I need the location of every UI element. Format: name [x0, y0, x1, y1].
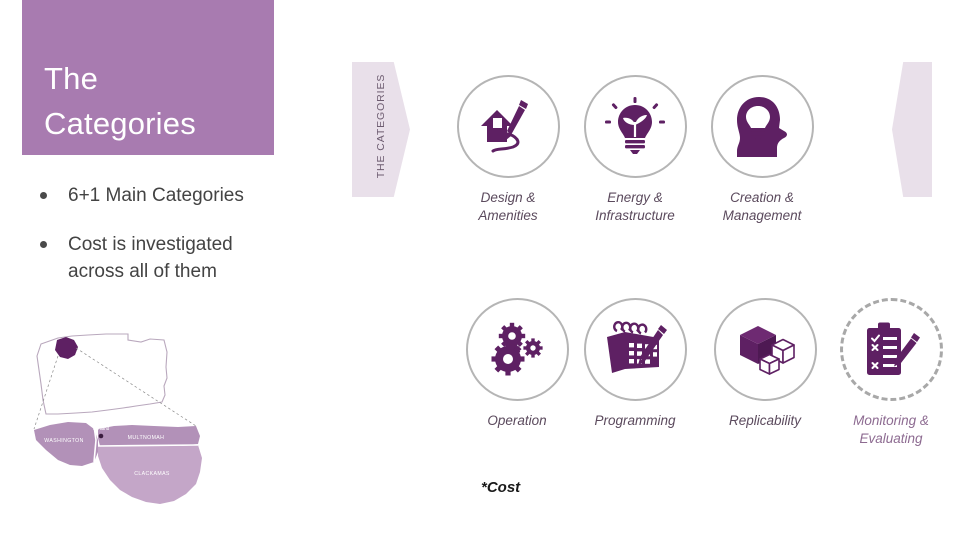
category-card-creation-management[interactable]: Creation & Management — [697, 75, 827, 225]
lightbulb-leaf-icon — [605, 97, 665, 157]
calendar-pencil-icon — [603, 321, 667, 379]
category-card-energy-infrastructure[interactable]: Energy & Infrastructure — [570, 75, 700, 225]
category-card-programming[interactable]: Programming — [570, 298, 700, 430]
cubes-icon — [734, 321, 796, 379]
category-card-operation[interactable]: Operation — [452, 298, 582, 430]
clipboard-checklist-pencil-icon — [861, 321, 921, 379]
cube-small — [760, 354, 779, 374]
category-icon-circle — [457, 75, 560, 178]
category-icon-circle — [466, 298, 569, 401]
list-item: 6+1 Main Categories — [40, 182, 340, 209]
bullet-dot-icon — [40, 192, 47, 199]
category-label: Creation & Management — [697, 189, 827, 225]
head-lightbulb-icon — [733, 96, 791, 158]
list-item: Cost is investigated across all of them — [40, 231, 340, 285]
category-card-design-amenities[interactable]: Design & Amenities — [443, 75, 573, 225]
category-label: Monitoring & Evaluating — [826, 412, 956, 448]
category-card-replicability[interactable]: Replicability — [700, 298, 830, 430]
bullet-text: Cost is investigated across all of them — [68, 231, 233, 285]
left-chevron-banner: THE CATEGORIES — [352, 62, 410, 197]
category-label: Operation — [452, 412, 582, 430]
category-icon-circle — [714, 298, 817, 401]
portland-city-marker — [99, 434, 104, 439]
category-label: Programming — [570, 412, 700, 430]
category-card-monitoring-evaluating[interactable]: Monitoring & Evaluating — [826, 298, 956, 448]
cost-footnote: *Cost — [481, 479, 520, 496]
bullet-text: 6+1 Main Categories — [68, 182, 244, 209]
map-label-washington: WASHINGTON — [44, 438, 83, 444]
category-icon-circle-dashed — [840, 298, 943, 401]
category-label: Energy & Infrastructure — [570, 189, 700, 225]
chevron-banner-label: THE CATEGORIES — [375, 59, 387, 193]
map-label-multnomah: MULTNOMAH — [128, 435, 165, 441]
oregon-county-map: Portland WASHINGTON MULTNOMAH CLACKAMAS — [28, 322, 218, 522]
map-label-portland: Portland — [93, 426, 110, 431]
bullet-dot-icon — [40, 241, 47, 248]
category-icon-circle — [711, 75, 814, 178]
bullet-list: 6+1 Main Categories Cost is investigated… — [40, 182, 340, 307]
category-label: Replicability — [700, 412, 830, 430]
map-svg: Portland WASHINGTON MULTNOMAH CLACKAMAS — [28, 322, 218, 522]
county-washington — [34, 422, 98, 466]
category-label: Design & Amenities — [443, 189, 573, 225]
category-icon-circle — [584, 75, 687, 178]
page-title: The Categories — [44, 56, 196, 146]
category-icon-circle — [584, 298, 687, 401]
house-pencil-icon — [477, 96, 539, 158]
map-label-clackamas: CLACKAMAS — [134, 471, 170, 477]
gears-icon — [486, 319, 548, 381]
right-chevron-banner — [892, 62, 932, 197]
